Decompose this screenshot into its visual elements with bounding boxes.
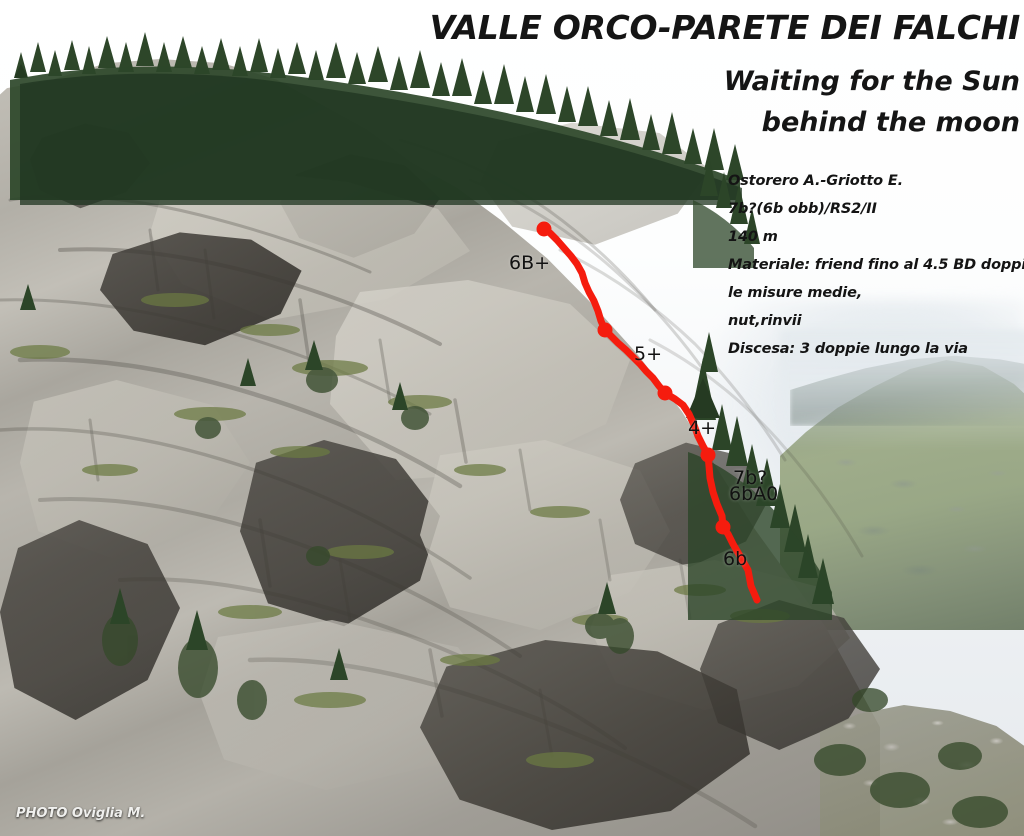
gear-text-line3: nut,rinvii — [728, 308, 1024, 336]
length-text: 140 m — [728, 224, 1024, 252]
route-name: Waiting for the Sun behind the moon — [540, 62, 1020, 143]
descent-text: Discesa: 3 doppie lungo la via — [728, 336, 1024, 364]
belay-dot — [537, 222, 552, 237]
pitch-grade-label: 6B+ — [509, 252, 550, 274]
pitch-grade-label: 6bA0 — [729, 483, 778, 505]
photo-credit: PHOTO Oviglia M. — [16, 806, 145, 821]
route-name-line2: behind the moon — [540, 103, 1020, 144]
route-line — [544, 229, 757, 600]
route-name-line1: Waiting for the Sun — [540, 62, 1020, 103]
route-info-block: Ostorero A.-Griotto E. 7b?(6b obb)/RS2/I… — [728, 168, 1024, 364]
belay-dot — [701, 448, 716, 463]
pitch-grade-label: 6b — [723, 548, 747, 570]
first-ascent-text: Ostorero A.-Griotto E. — [728, 168, 1024, 196]
belay-stations — [537, 222, 731, 535]
page-title: VALLE ORCO-PARETE DEI FALCHI — [424, 10, 1020, 46]
belay-dot — [716, 520, 731, 535]
pitch-grade-label: 5+ — [634, 343, 662, 365]
gear-text-line1: Materiale: friend fino al 4.5 BD doppie — [728, 252, 1024, 280]
gear-text-line2: le misure medie, — [728, 280, 1024, 308]
route-photo-overlay: 6B+5+4+7b?6bA06b VALLE ORCO-PARETE DEI F… — [0, 0, 1024, 836]
belay-dot — [658, 386, 673, 401]
grade-text: 7b?(6b obb)/RS2/II — [728, 196, 1024, 224]
belay-dot — [598, 323, 613, 338]
pitch-grade-label: 4+ — [688, 417, 716, 439]
